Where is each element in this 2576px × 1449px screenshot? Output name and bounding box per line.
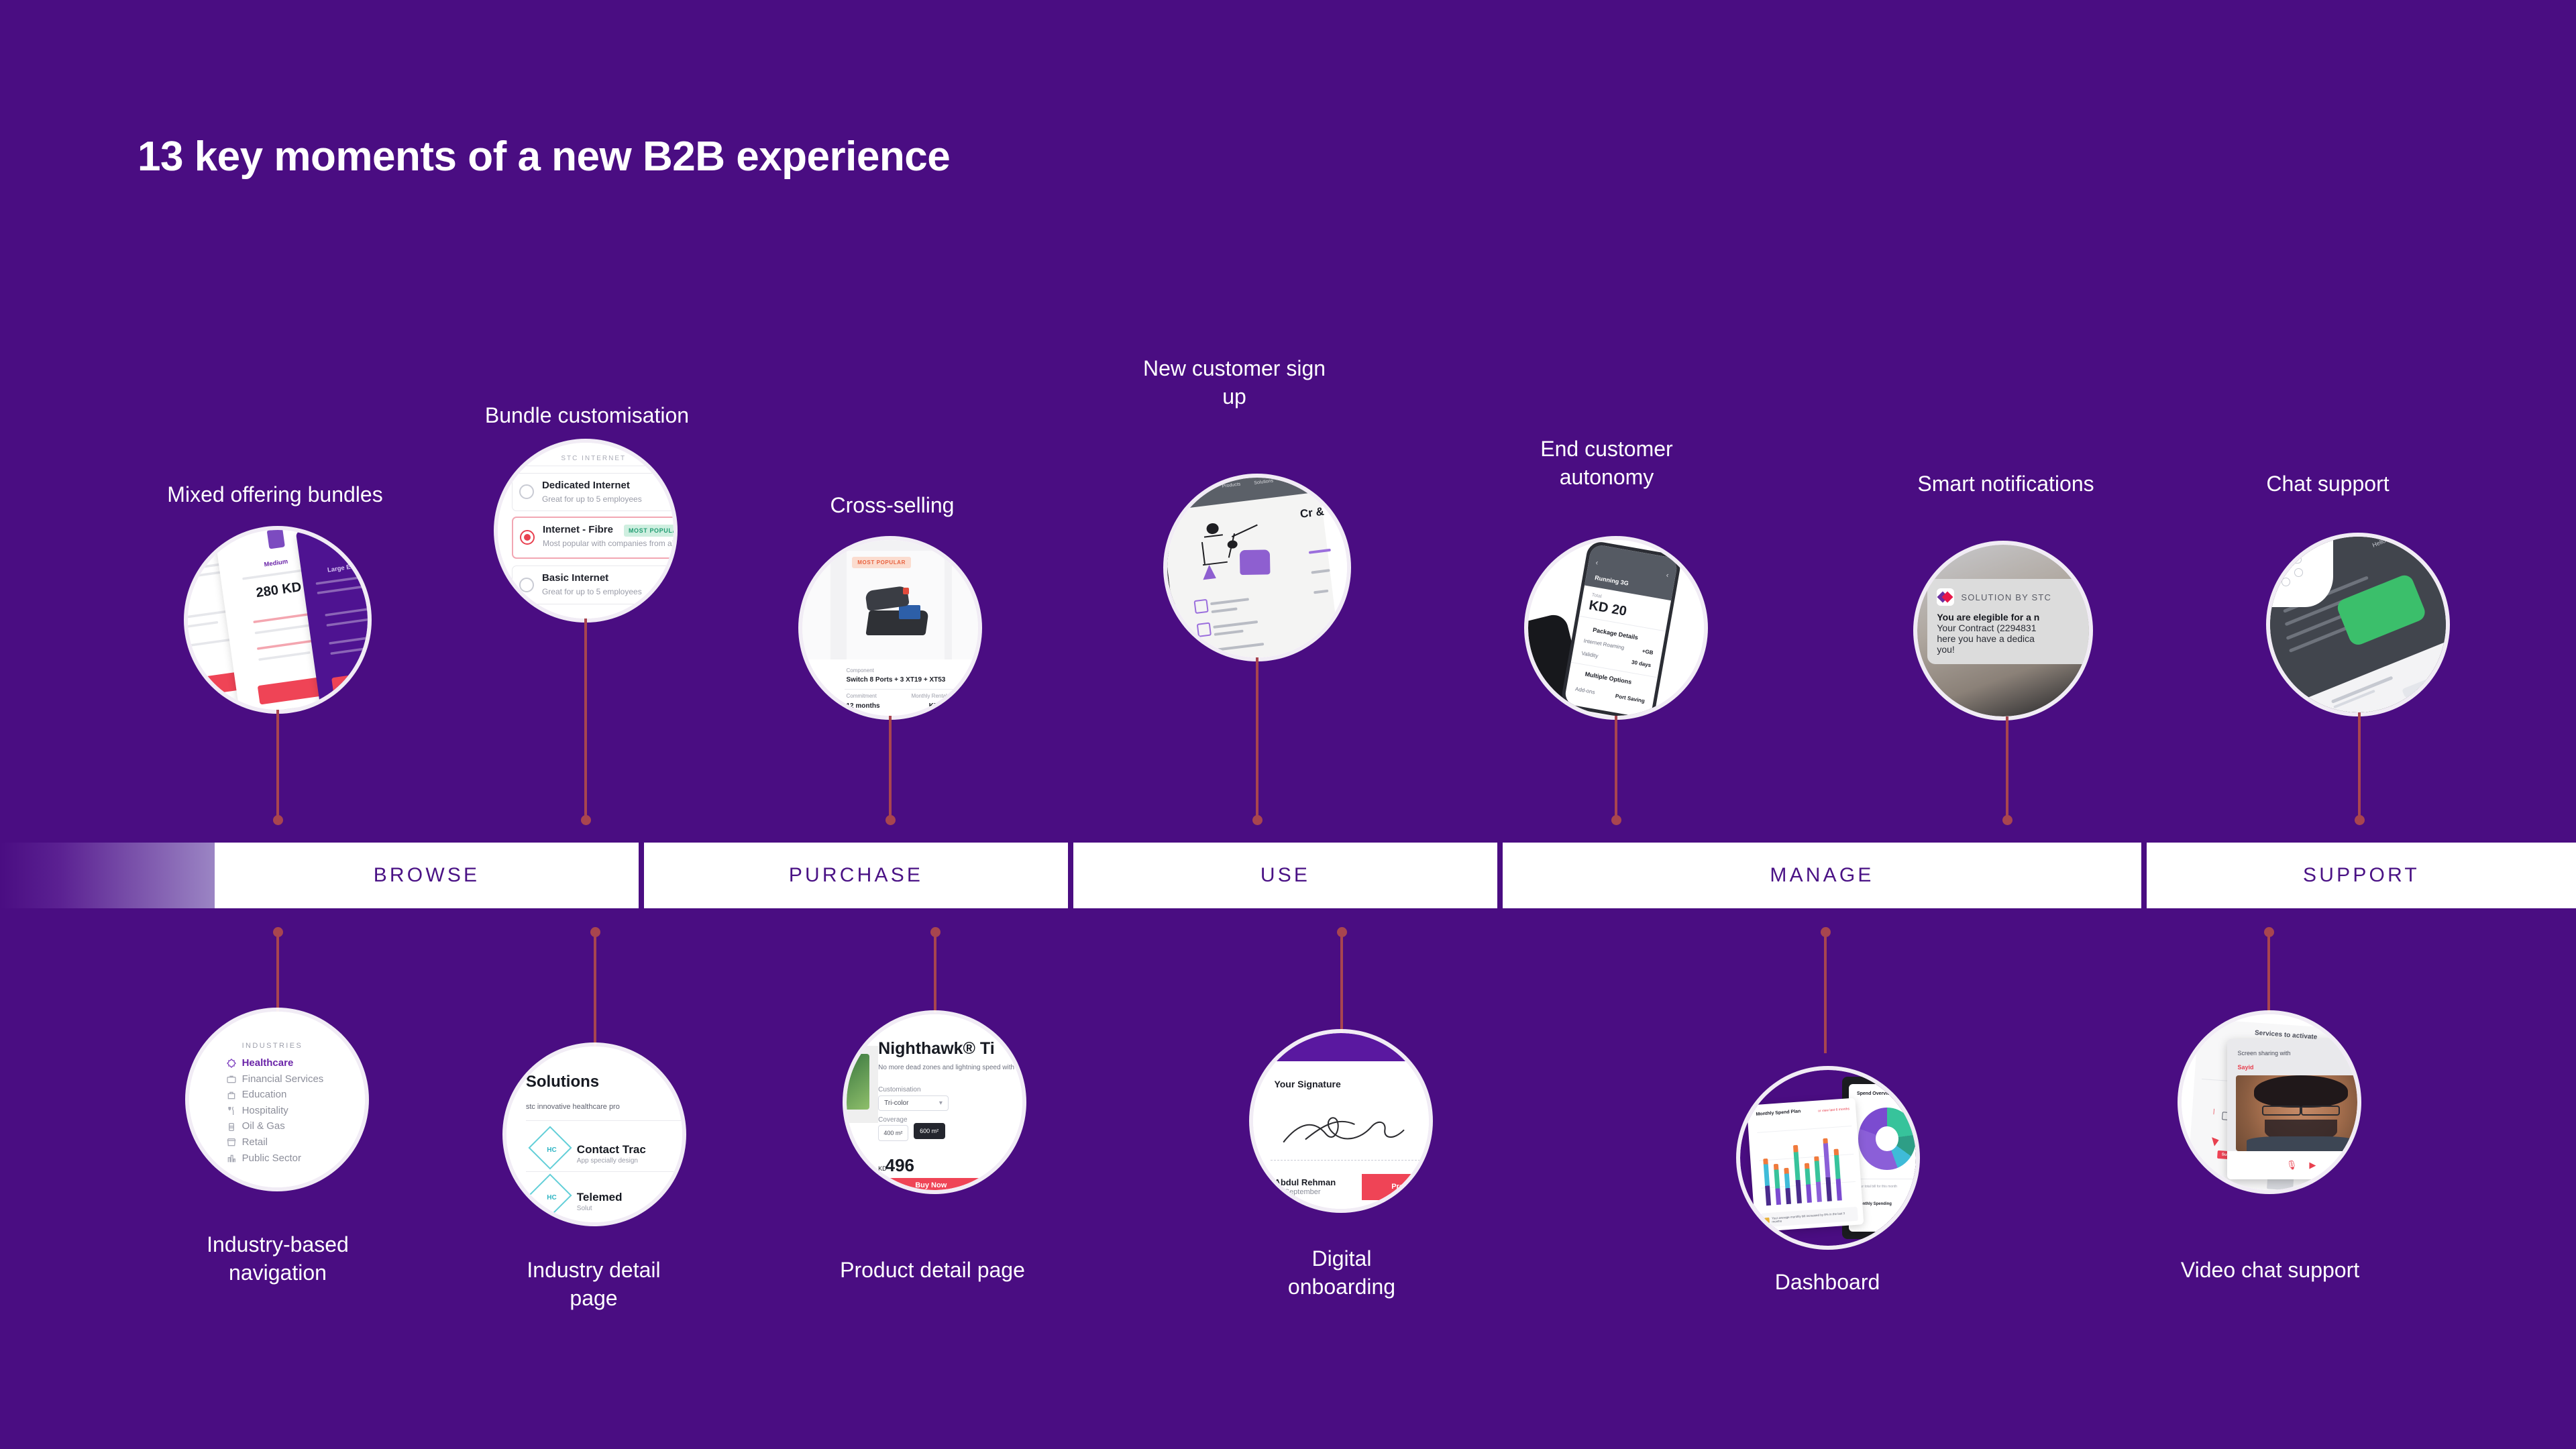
total-value: KD 20 — [1588, 598, 1628, 619]
warning-icon — [1764, 1218, 1769, 1223]
product-title: Nighthawk® Ti — [878, 1039, 995, 1059]
option-title: Basic Internet — [542, 572, 608, 584]
row-value: +GB — [1642, 648, 1654, 656]
currency-label: KD — [878, 1165, 887, 1172]
price-value: 280 KD — [255, 580, 303, 602]
connector-line — [584, 619, 587, 821]
agent-label: Hello Doctor — [2371, 537, 2405, 549]
thumbnail-pricing-bundles[interactable]: Medium KD Medium 280 KD — [188, 530, 368, 710]
nav-item[interactable]: Solutions — [1254, 478, 1273, 485]
round-icon[interactable] — [2282, 578, 2290, 586]
row-key: Validity — [1581, 651, 1599, 659]
attachment-icon[interactable] — [2307, 705, 2321, 712]
bullet-text — [1214, 620, 1258, 628]
connector-dot — [2355, 815, 2365, 825]
healthcare-icon — [226, 1058, 237, 1069]
industry-item-financial-services[interactable]: Financial Services — [242, 1073, 324, 1085]
bullet-icon — [1194, 599, 1209, 614]
solution-subtitle: Solut — [577, 1205, 592, 1212]
option-title: Internet - Fibre — [543, 524, 613, 535]
connector-dot — [581, 815, 591, 825]
thumbnail-product-detail[interactable]: Nighthawk® Ti No more dead zones and lig… — [847, 1014, 1022, 1190]
bullet-text — [1216, 643, 1265, 651]
stage-label: PURCHASE — [789, 864, 923, 887]
bundle-option-row[interactable]: Basic Internet Great for up to 5 employe… — [512, 566, 674, 604]
bar-chart-plot — [1759, 1121, 1857, 1205]
divider — [508, 466, 674, 466]
send-button[interactable] — [2402, 669, 2446, 698]
moment-label: Video chat support — [2086, 1256, 2454, 1284]
radio-unselected[interactable] — [519, 578, 534, 592]
phone-side-panel — [2270, 537, 2333, 607]
commitment-label: Commitment — [847, 693, 877, 699]
glasses-left — [2262, 1106, 2301, 1116]
thumbnail-signup-laptop[interactable]: Solutions by stc Products Solutions Supp… — [1167, 478, 1347, 657]
page-title: 13 key moments of a new B2B experience — [138, 133, 950, 180]
glasses-right — [2301, 1106, 2340, 1116]
most-popular-badge: MOST POPULAR — [852, 557, 911, 568]
feature-line — [330, 645, 368, 655]
feature-line — [329, 633, 368, 645]
signer-name: Abdul Rehman — [1274, 1177, 1336, 1187]
cta-button[interactable] — [331, 667, 368, 696]
side-title: Spend Overview — [1857, 1091, 1893, 1096]
thumbnail-industries-menu[interactable]: INDUSTRIES Healthcare Financial Services… — [189, 1012, 365, 1187]
stage-label: BROWSE — [374, 864, 480, 887]
industry-item-hospitality[interactable]: Hospitality — [242, 1105, 288, 1116]
signature-label: Your Signature — [1274, 1079, 1340, 1089]
menu-header: INDUSTRIES — [242, 1042, 303, 1050]
laptop-mock: Solutions by stc Products Solutions Supp… — [1167, 478, 1347, 657]
desk-phone-icon — [862, 588, 933, 635]
plan-icon — [266, 530, 284, 549]
side-title: Cr & — [1299, 505, 1325, 521]
nav-item[interactable]: Support — [1286, 478, 1303, 482]
plan-name: Large Enterprises — [327, 559, 368, 574]
product-gallery — [847, 1046, 878, 1123]
connector-line — [1256, 657, 1258, 821]
bundle-option-row-selected[interactable]: Internet - Fibre MOST POPULAR Most popul… — [512, 517, 674, 559]
proceed-button[interactable]: Proceed — [1362, 1174, 1429, 1200]
app-name: SOLUTION BY STC — [1961, 592, 2051, 602]
thumbnail-mobile-billing[interactable]: ‹ ‹ Running 3G Total KD 20 Package Detai… — [1528, 540, 1704, 716]
nav-item[interactable]: Products — [1222, 482, 1241, 488]
video-camera-icon[interactable]: ▶ — [2309, 1160, 2316, 1171]
rental-value: KD 18 — [929, 702, 948, 710]
bar — [1792, 1145, 1801, 1203]
solution-title[interactable]: Telemed — [577, 1191, 623, 1204]
plan-name: Medium — [264, 558, 288, 568]
connector-line — [2006, 716, 2008, 821]
option-subtitle: Great for up to 5 employees — [542, 587, 642, 596]
hc-badge-text: HC — [547, 1146, 556, 1154]
nav-brand: Solutions by stc — [1167, 485, 1204, 494]
connector-line — [1340, 932, 1343, 1033]
call-controls[interactable]: 🎙 ▶ — [2227, 1151, 2357, 1179]
app-header: ‹ ‹ Running 3G — [1585, 544, 1678, 601]
connector-dot — [273, 815, 283, 825]
thumb-header: STC INTERNET — [561, 455, 626, 462]
plan-icon — [341, 536, 359, 557]
moment-label: Chat support — [2173, 470, 2482, 498]
laptop-screen: Solutions by stc Products Solutions Supp… — [1167, 478, 1340, 657]
connector-line — [934, 932, 936, 1013]
journey-timeline: BROWSE PURCHASE USE MANAGE SUPPORT — [0, 843, 2576, 908]
radio-selected[interactable] — [520, 530, 535, 545]
bullet-icon — [1197, 622, 1212, 637]
phone-front[interactable]: ‹ ‹ Running 3G Total KD 20 Package Detai… — [1560, 540, 1682, 716]
moment-label: Cross-selling — [711, 491, 1073, 519]
coverage-chip-1[interactable]: 400 m² — [878, 1125, 908, 1141]
bullet-marker: | — [2212, 1108, 2214, 1114]
connector-line — [1824, 932, 1827, 1053]
bullet-text — [1214, 630, 1243, 636]
thumbnail-signature-pad[interactable]: Your Signature Abdul Rehman 19 September… — [1253, 1033, 1429, 1209]
feature-line — [258, 651, 311, 661]
product-info-panel: Component Switch 8 Ports + 3 XT19 + XT53… — [802, 659, 978, 716]
connector-dot — [885, 815, 896, 825]
thumbnail-push-notification[interactable]: SOLUTION BY STC You are elegible for a n… — [1917, 545, 2089, 716]
mic-off-icon[interactable]: 🎙 — [2286, 1160, 2298, 1171]
connector-dot — [2002, 815, 2012, 825]
bar — [1814, 1157, 1822, 1202]
onboarding-illustration — [1191, 513, 1283, 588]
coverage-chip-2[interactable]: 600 m² — [914, 1123, 945, 1139]
chart-link[interactable]: or view last 6 months — [1818, 1108, 1849, 1114]
stage-label: SUPPORT — [2303, 864, 2420, 887]
moment-label: Industry detail page — [416, 1256, 771, 1312]
bar — [1834, 1148, 1842, 1200]
notification-app-row: SOLUTION BY STC — [1937, 588, 2089, 606]
product-description: No more dead zones and lightning speed w… — [878, 1063, 1022, 1073]
option-subtitle: Great for up to 5 employees — [542, 494, 642, 504]
product-thumb-image — [847, 1054, 869, 1110]
notification-title: You are elegible for a n — [1937, 612, 2089, 623]
signature-scribble[interactable] — [1278, 1104, 1415, 1157]
text-line — [317, 582, 368, 594]
moment-label: Dashboard — [1644, 1268, 2011, 1296]
briefcase-icon — [226, 1074, 237, 1085]
side-caption: Your total bill for this month — [1857, 1185, 1897, 1189]
agent-name: Sayid — [2238, 1064, 2254, 1071]
moment-label: Digital onboarding — [1161, 1244, 1523, 1301]
connector-line — [594, 932, 596, 1050]
bag-icon — [226, 1090, 237, 1101]
moment-label: End customer autonomy — [1456, 435, 1758, 491]
dashboard-chart-card: Monthly Spend Plan or view last 6 months — [1746, 1098, 1864, 1232]
bundle-option-row[interactable]: Dedicated Internet Great for up to 5 emp… — [512, 473, 674, 512]
solution-subtitle: App specially design — [577, 1157, 638, 1165]
hc-badge-text: HC — [547, 1194, 556, 1201]
industry-item-retail[interactable]: Retail — [242, 1136, 268, 1148]
signer-date: 19 September — [1274, 1188, 1320, 1196]
bullet-text — [1212, 607, 1238, 613]
thumbnail-desk-phone-product[interactable]: MOST POPULAR Component Switch 8 P — [802, 540, 978, 716]
pill-toggle[interactable] — [2282, 556, 2302, 563]
thumbnail-solutions-list[interactable]: Solutions stc innovative healthcare pro … — [506, 1046, 682, 1222]
product-price: 496 — [885, 1155, 914, 1176]
notification-card[interactable]: SOLUTION BY STC You are elegible for a n… — [1927, 579, 2089, 664]
product-card-prev[interactable] — [802, 551, 830, 659]
barrel-icon — [226, 1122, 237, 1132]
back-icon[interactable]: ‹ — [1595, 559, 1599, 568]
customisation-select[interactable]: Tri-color ▾ — [878, 1095, 949, 1112]
stage-browse[interactable]: BROWSE — [215, 843, 644, 908]
connector-line — [889, 716, 892, 821]
coverage-label: Coverage — [878, 1116, 907, 1124]
donut-chart — [1858, 1108, 1915, 1169]
moment-label: Product detail page — [751, 1256, 1114, 1284]
stage-purchase[interactable]: PURCHASE — [644, 843, 1073, 908]
thumbnail-analytics-dashboard[interactable]: Spend Overview Your total bill for this … — [1740, 1070, 1916, 1246]
connector-dot — [1611, 815, 1621, 825]
round-icon[interactable] — [2294, 568, 2303, 577]
moment-label: Bundle customisation — [402, 401, 771, 429]
buy-now-button[interactable]: Buy Now — [878, 1178, 983, 1190]
site-header: Solutions by stc Products Solutions Supp… — [1167, 478, 1320, 511]
stage-label: MANAGE — [1770, 864, 1874, 887]
connector-line — [276, 710, 279, 821]
bar — [1784, 1168, 1791, 1204]
option-subtitle: Most popular with companies from ai u — [543, 539, 674, 548]
component-value: Switch 8 Ports + 3 XT19 + XT53 — [847, 676, 946, 684]
industry-item-oil-gas[interactable]: Oil & Gas — [242, 1120, 285, 1132]
row-key: Add-ons — [1575, 686, 1596, 695]
solutions-title: Solutions — [526, 1073, 599, 1091]
bar — [1823, 1138, 1832, 1201]
rental-label: Monthly Rental — [911, 693, 947, 699]
share-icon[interactable]: ‹ — [1666, 572, 1670, 580]
connector-dot — [1252, 815, 1263, 825]
timeline-gradient-cap — [0, 843, 215, 908]
screen-share-label: Screen sharing with — [2238, 1050, 2291, 1057]
cursor-icon — [2212, 1135, 2220, 1146]
torso — [2247, 1136, 2356, 1152]
bar — [1763, 1159, 1771, 1205]
product-card-next[interactable] — [952, 551, 978, 659]
bullet-text — [1211, 598, 1250, 605]
thumbnail-chat-thread[interactable]: ✕ Hello Doctor — [2270, 537, 2446, 712]
feature-line — [325, 604, 368, 616]
moment-label: Industry-based navigation — [94, 1230, 462, 1287]
store-icon — [226, 1137, 237, 1148]
video-call-panel[interactable]: ✕ Screen sharing with Sayid 🎙 ▶ — [2227, 1039, 2357, 1180]
app-logo-icon — [1937, 588, 1954, 606]
row-key: Internet Roaming — [1583, 638, 1625, 651]
solutions-subtitle: stc innovative healthcare pro — [526, 1103, 620, 1111]
stage-manage[interactable]: MANAGE — [1503, 843, 2147, 908]
bar — [1804, 1163, 1811, 1203]
select-value: Tri-color — [884, 1099, 908, 1107]
thumbnail-video-call[interactable]: Services to activate Pay | Submit — [2182, 1014, 2357, 1190]
screen-title: Running 3G — [1595, 574, 1629, 587]
chart-title: Monthly Spend Plan — [1756, 1110, 1801, 1118]
connector-line — [1615, 716, 1617, 821]
industry-item-public-sector[interactable]: Public Sector — [242, 1152, 301, 1164]
divider — [1857, 1179, 1916, 1179]
moment-label: Mixed offering bundles — [87, 480, 463, 508]
connector-line — [2358, 712, 2361, 821]
infographic-canvas: 13 key moments of a new B2B experience M… — [0, 0, 2576, 1449]
stage-label: USE — [1260, 864, 1310, 887]
most-popular-badge: MOST POPULAR — [624, 525, 674, 537]
connector-line — [2267, 932, 2270, 1013]
building-icon — [226, 1153, 237, 1164]
cutlery-icon — [226, 1106, 237, 1116]
row-value: Port Saving — [1615, 693, 1645, 704]
component-label: Component — [847, 667, 874, 674]
text-line — [316, 572, 368, 585]
notification-line: Your Contract (2294831 — [1937, 623, 2089, 633]
moment-label: Smart notifications — [1818, 470, 2194, 498]
composer[interactable] — [2290, 637, 2446, 712]
commitment-value: 12 months — [847, 702, 880, 710]
moment-label: New customer sign up — [1073, 354, 1395, 411]
chevron-down-icon: ▾ — [939, 1099, 943, 1107]
divider — [526, 1171, 682, 1172]
footnote-text: Your average monthly bill increased by 8… — [1772, 1211, 1855, 1224]
section-title: Package Details — [1593, 627, 1639, 641]
notification-line: here you have a dedica — [1937, 633, 2089, 644]
feature-line — [254, 624, 311, 634]
option-title: Dedicated Internet — [542, 480, 630, 491]
text-line — [188, 621, 218, 630]
industry-item-healthcare[interactable]: Healthcare — [242, 1057, 294, 1069]
radio-unselected[interactable] — [519, 484, 534, 499]
divider — [845, 689, 978, 690]
connector-line — [276, 932, 279, 1018]
section-title: Multiple Options — [1585, 672, 1632, 686]
stage-use[interactable]: USE — [1073, 843, 1503, 908]
product-image-card: MOST POPULAR — [847, 551, 945, 659]
bullet-icon — [1200, 645, 1215, 657]
divider — [1271, 1160, 1429, 1161]
solution-title[interactable]: Contact Trac — [577, 1143, 646, 1157]
divider — [526, 1120, 682, 1121]
industry-item-education[interactable]: Education — [242, 1089, 287, 1100]
chart-footnote: Your average monthly bill increased by 8… — [1760, 1207, 1858, 1228]
thumbnail-bundle-options[interactable]: STC INTERNET Dedicated Internet Great fo… — [498, 443, 674, 619]
app-header-bar — [1253, 1033, 1429, 1061]
row-value: 30 days — [1631, 659, 1651, 669]
notification-line: you! — [1937, 644, 2089, 655]
stage-support[interactable]: SUPPORT — [2147, 843, 2576, 908]
agent-video-feed — [2236, 1075, 2357, 1151]
hair — [2254, 1075, 2347, 1108]
input-placeholder-line — [2331, 676, 2394, 704]
customisation-label: Customisation — [878, 1086, 920, 1093]
feature-line — [326, 617, 368, 627]
bar — [1774, 1164, 1781, 1205]
status-bar-green — [2305, 537, 2322, 538]
